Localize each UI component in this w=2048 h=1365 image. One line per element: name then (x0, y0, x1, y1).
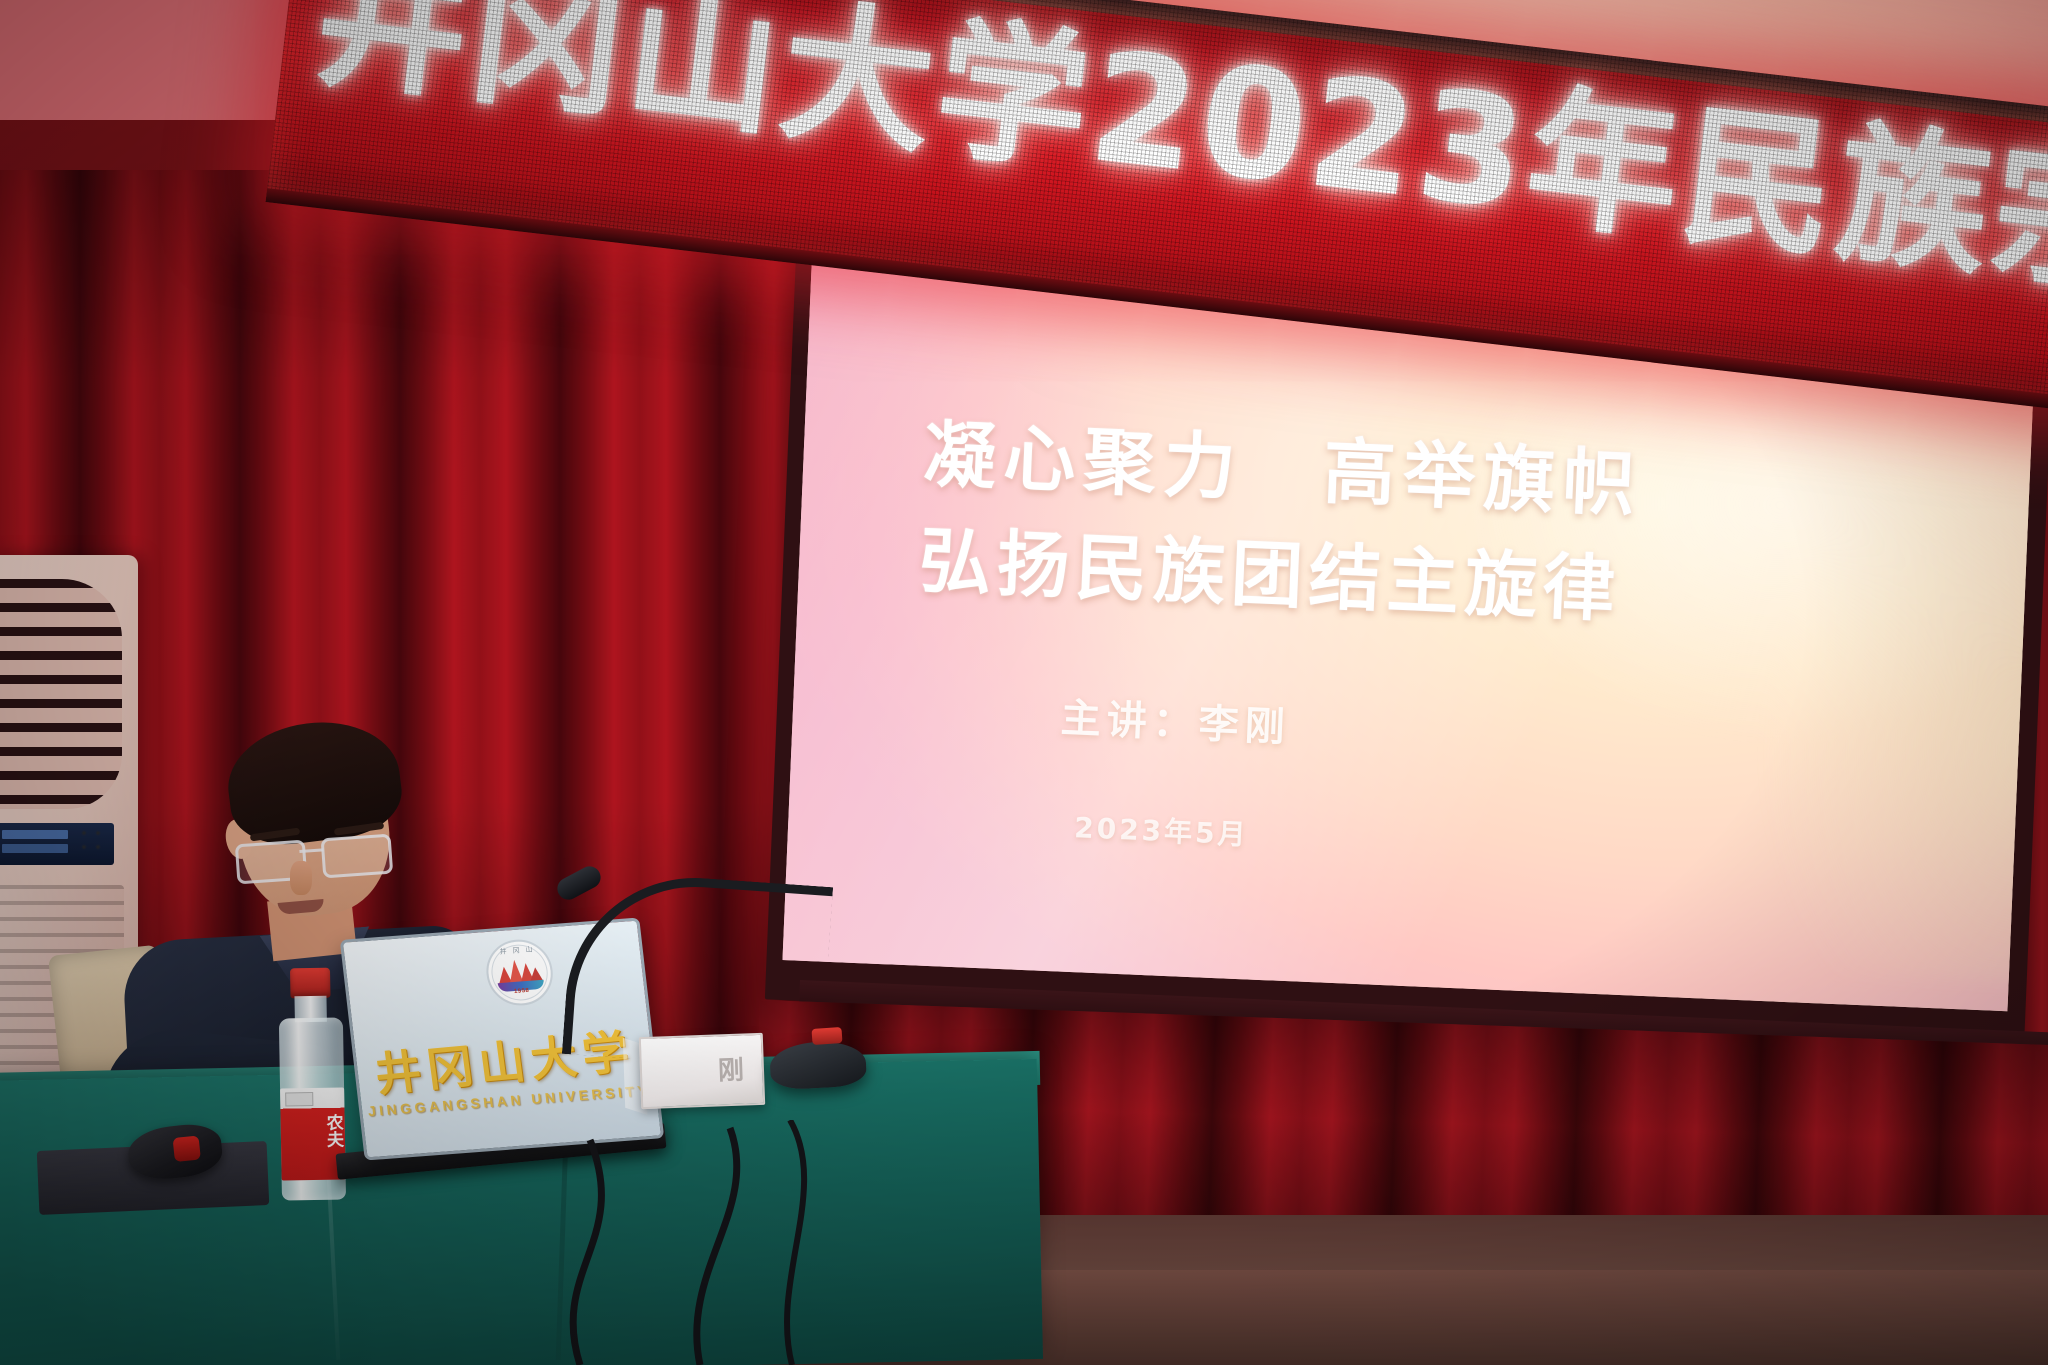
bottle-cap (290, 968, 331, 999)
eyeglass-bridge (299, 848, 323, 853)
university-emblem-icon: 井 冈 山 1958 (483, 937, 556, 1008)
eyeglass-lens-right (321, 834, 394, 879)
person-nose (290, 861, 312, 895)
conference-photo-scene: 凝心聚力 高举旗帜 弘扬民族团结主旋律 主讲：李刚 2023年5月 井冈山大学2… (0, 0, 2048, 1365)
ac-vent-grill (0, 579, 122, 809)
emblem-year: 1958 (514, 988, 530, 995)
microphone-talk-button[interactable] (811, 1027, 842, 1045)
floor-right-foreground (1020, 1270, 2048, 1365)
ac-button-dots-icon[interactable] (78, 827, 108, 861)
cable-routing (430, 1120, 990, 1365)
slide-date: 2023年5月 (1074, 806, 1250, 853)
slide-presenter: 主讲：李刚 (1060, 685, 1292, 753)
cable-svg (430, 1120, 990, 1365)
